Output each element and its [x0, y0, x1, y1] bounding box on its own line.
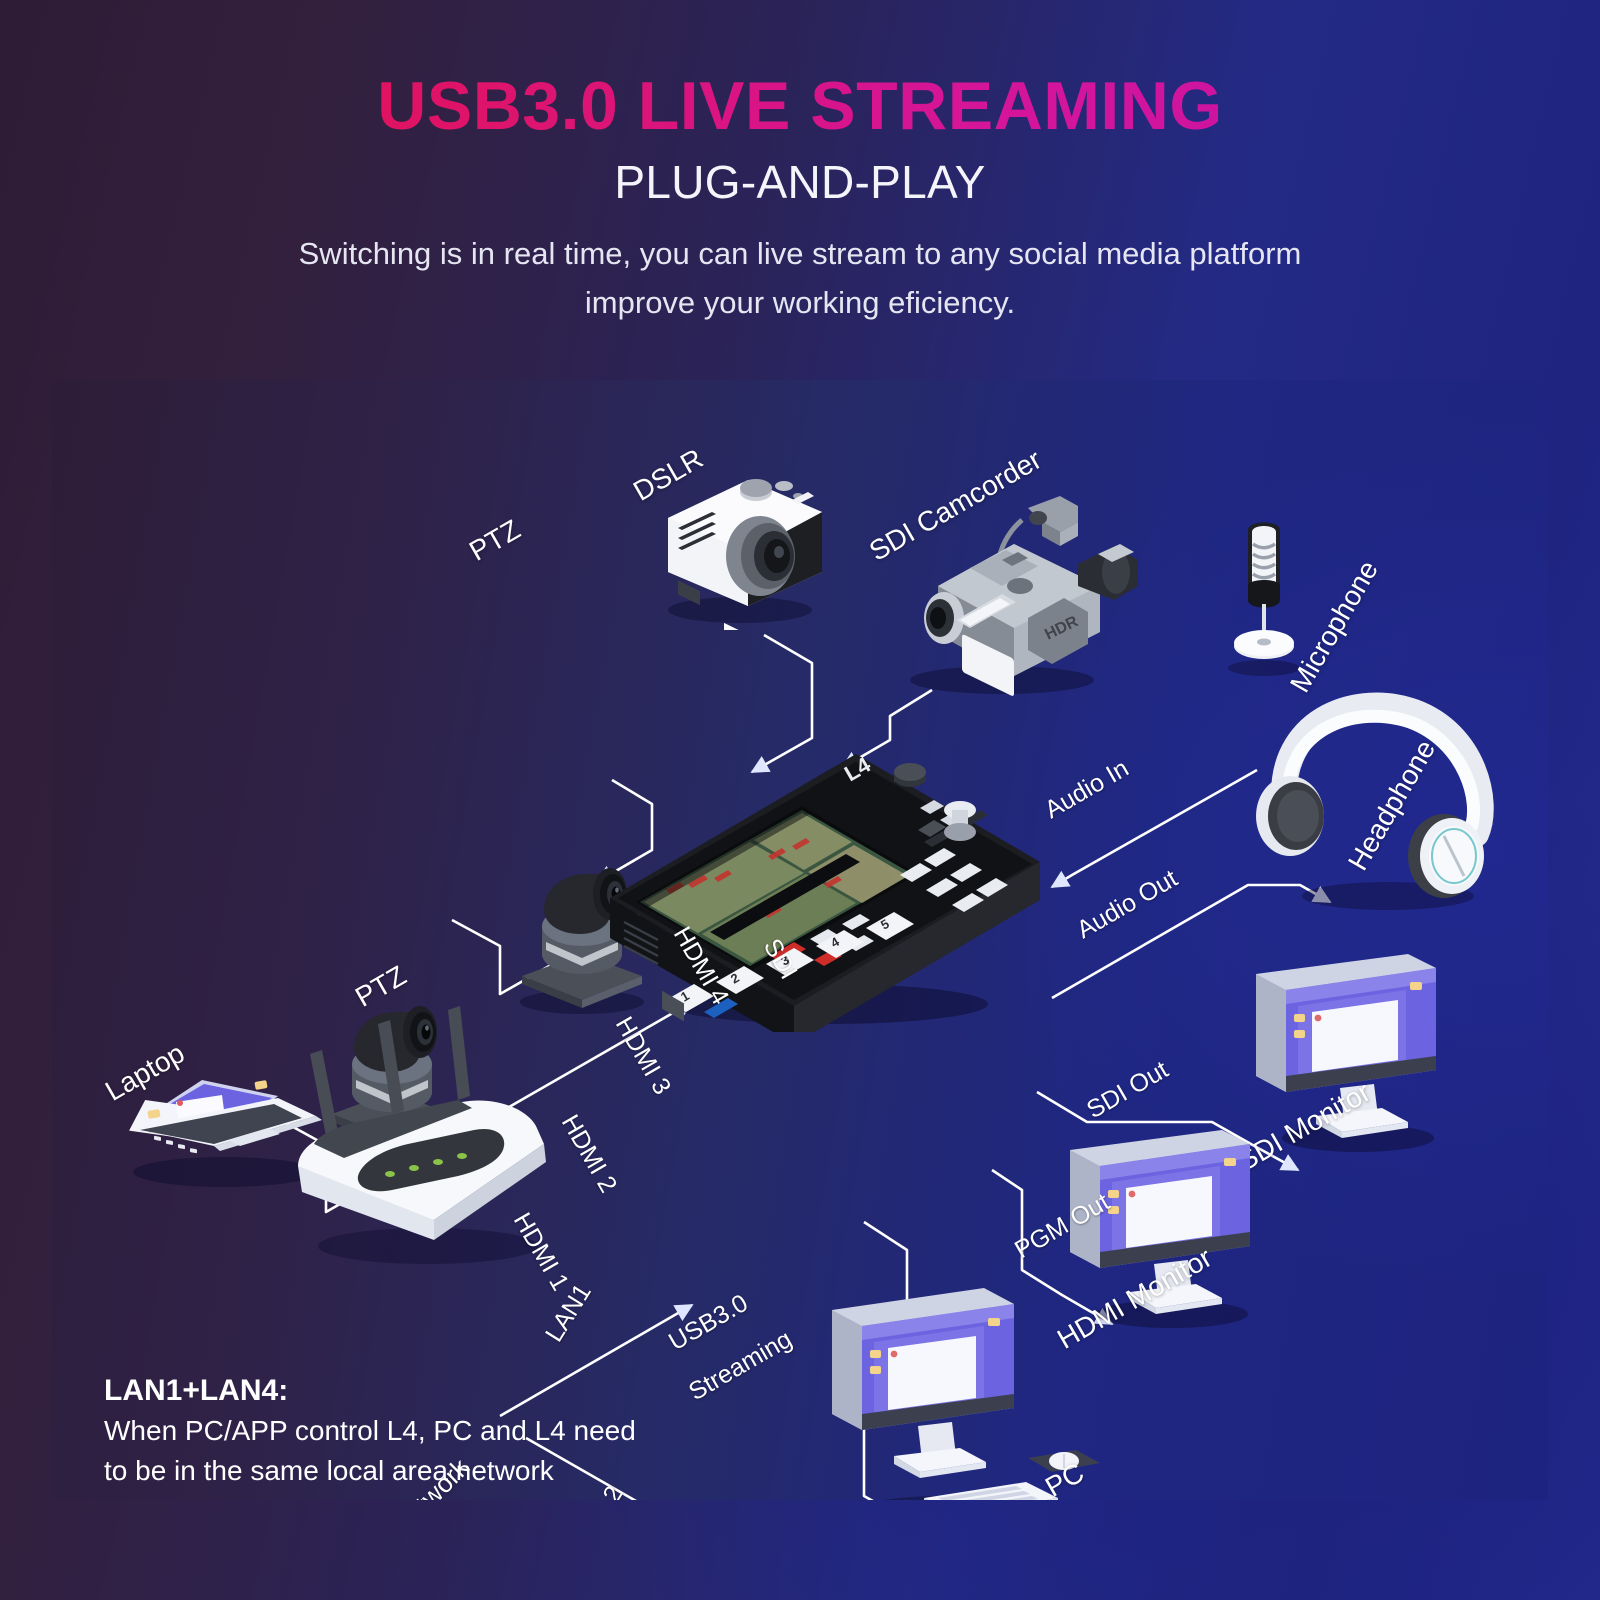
- footer-caption: LAN1+LAN4: When PC/APP control L4, PC an…: [104, 1372, 744, 1491]
- device-l4-switcher[interactable]: 1 2 3 4 5 L4: [588, 732, 1058, 1032]
- caption-line-1: When PC/APP control L4, PC and L4 need: [104, 1410, 744, 1451]
- device-sdi-camcorder: HDR: [852, 468, 1152, 698]
- page-subtitle: PLUG-AND-PLAY: [0, 141, 1600, 209]
- page-title: USB3.0 LIVE STREAMING: [0, 0, 1600, 141]
- connection-diagram: Laptop: [52, 380, 1548, 1500]
- header: USB3.0 LIVE STREAMING PLUG-AND-PLAY Swit…: [0, 0, 1600, 326]
- caption-heading: LAN1+LAN4:: [104, 1372, 744, 1410]
- lede-line-1: Switching is in real time, you can live …: [0, 209, 1600, 278]
- caption-line-2: to be in the same local area network: [104, 1450, 744, 1491]
- lede-line-2: improve your working eficiency.: [0, 278, 1600, 327]
- promo-page: USB3.0 LIVE STREAMING PLUG-AND-PLAY Swit…: [0, 0, 1600, 1600]
